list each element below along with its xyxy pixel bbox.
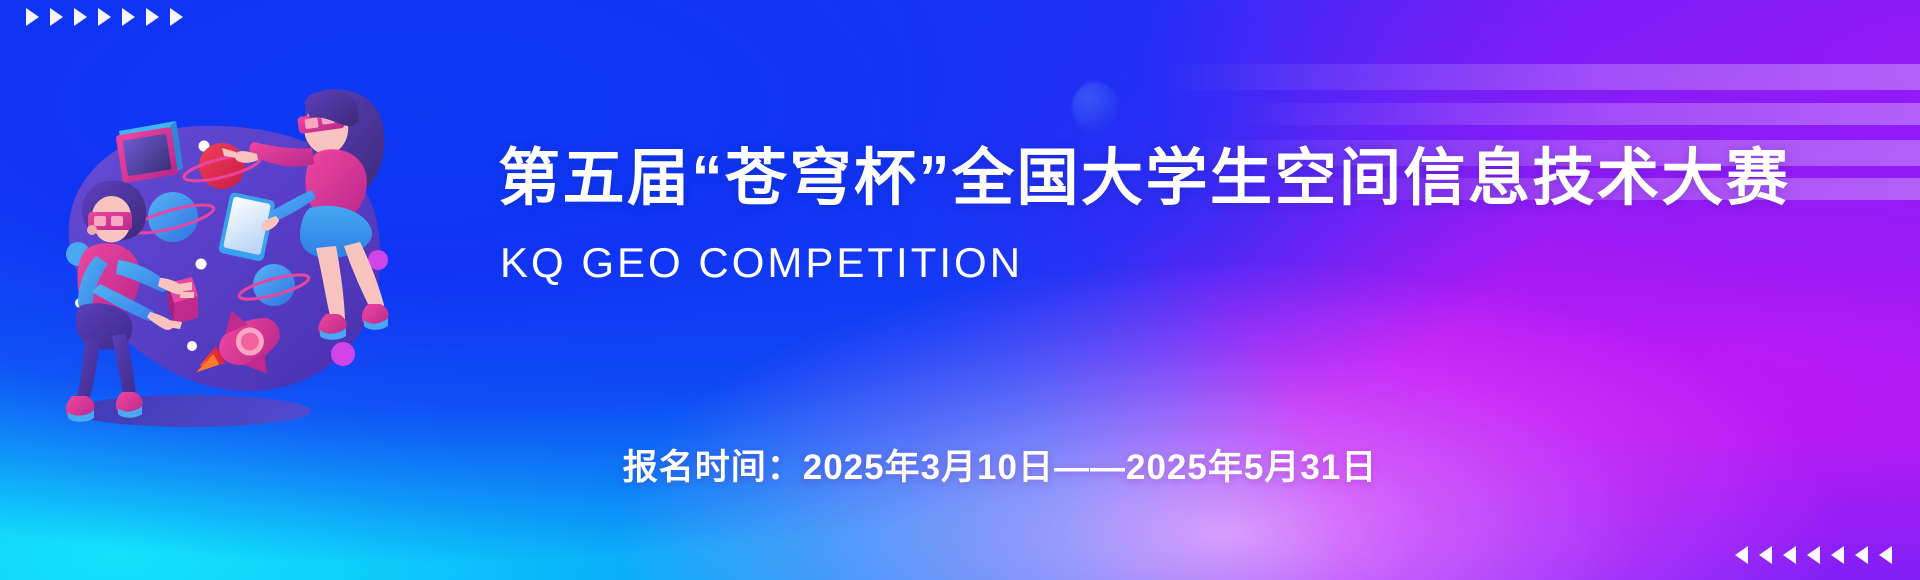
triangle-right-icon — [98, 8, 111, 26]
page-subtitle: KQ GEO COMPETITION — [500, 242, 1023, 284]
triangle-left-icon — [1855, 546, 1868, 564]
arrow-triangles-bottom-right — [1735, 546, 1892, 564]
triangle-left-icon — [1879, 546, 1892, 564]
dot — [196, 259, 207, 270]
vr-students-space-illustration — [26, 78, 406, 438]
ground-shadow-ellipse — [71, 395, 311, 427]
page-title: 第五届“苍穹杯”全国大学生空间信息技术大赛 — [498, 148, 1791, 210]
triangle-right-icon — [122, 8, 135, 26]
triangle-left-icon — [1831, 546, 1844, 564]
decorative-stripe — [1160, 64, 1920, 90]
dot — [331, 342, 355, 366]
triangle-right-icon — [26, 8, 39, 26]
arrow-triangles-top-left — [26, 8, 183, 26]
triangle-left-icon — [1735, 546, 1748, 564]
floating-planet-icon — [1072, 82, 1118, 134]
decorative-stripe — [1230, 103, 1920, 125]
triangle-left-icon — [1759, 546, 1772, 564]
competition-banner: 第五届“苍穹杯”全国大学生空间信息技术大赛 KQ GEO COMPETITION… — [0, 0, 1920, 580]
dot — [187, 341, 197, 351]
registration-period: 报名时间：2025年3月10日——2025年5月31日 — [623, 450, 1378, 485]
triangle-right-icon — [50, 8, 63, 26]
triangle-right-icon — [146, 8, 159, 26]
triangle-left-icon — [1783, 546, 1796, 564]
triangle-left-icon — [1807, 546, 1820, 564]
floating-cube-screen — [116, 121, 183, 183]
triangle-right-icon — [74, 8, 87, 26]
triangle-right-icon — [170, 8, 183, 26]
